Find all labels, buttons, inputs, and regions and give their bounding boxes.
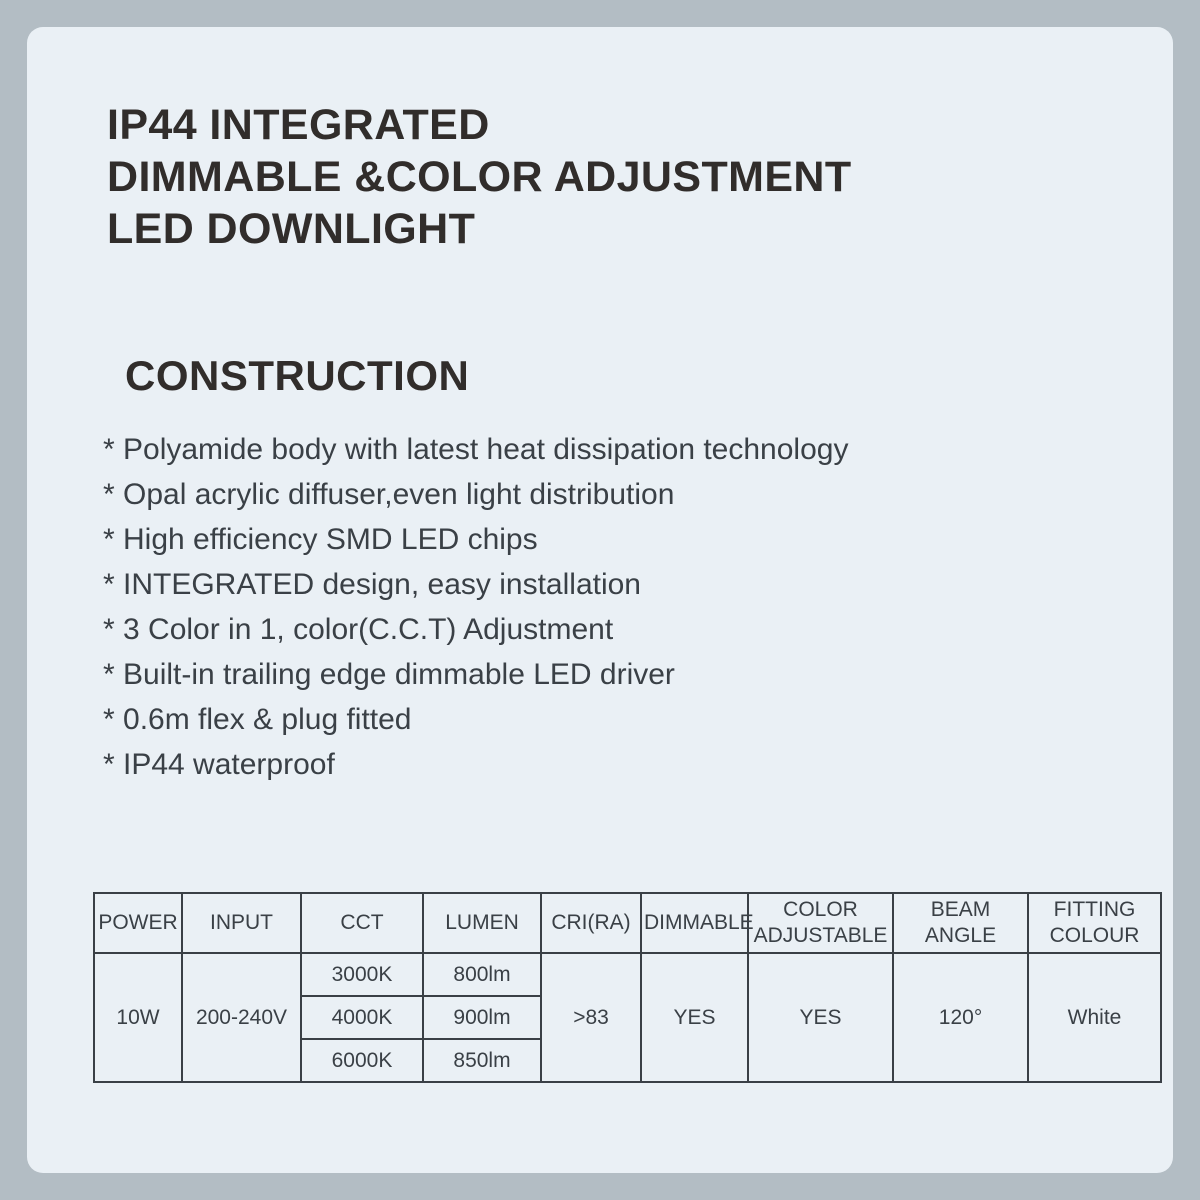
table-header-cct: CCT [301, 893, 423, 953]
table-cell-beam-angle: 120° [893, 953, 1028, 1082]
table-cell-cri: >83 [541, 953, 641, 1082]
feature-item: * High efficiency SMD LED chips [103, 517, 1143, 562]
feature-item: * Built-in trailing edge dimmable LED dr… [103, 652, 1143, 697]
table-cell-power: 10W [94, 953, 182, 1082]
feature-item: * IP44 waterproof [103, 742, 1143, 787]
table-cell-input: 200-240V [182, 953, 301, 1082]
table-header-input: INPUT [182, 893, 301, 953]
table-header-cri: CRI(RA) [541, 893, 641, 953]
feature-item: * 0.6m flex & plug fitted [103, 697, 1143, 742]
table-row: 10W 200-240V 3000K 800lm >83 YES YES 120… [94, 953, 1161, 996]
table-cell-cct-2: 4000K [301, 996, 423, 1039]
feature-item: * INTEGRATED design, easy installation [103, 562, 1143, 607]
table-cell-lumen-1: 800lm [423, 953, 541, 996]
table-header-lumen: LUMEN [423, 893, 541, 953]
table-header-dimmable: DIMMABLE [641, 893, 748, 953]
specification-table: POWER INPUT CCT LUMEN CRI(RA) DIMMABLE C… [93, 892, 1162, 1083]
feature-item: * Opal acrylic diffuser,even light distr… [103, 472, 1143, 517]
table-header-row: POWER INPUT CCT LUMEN CRI(RA) DIMMABLE C… [94, 893, 1161, 953]
content-panel: IP44 INTEGRATED DIMMABLE &COLOR ADJUSTME… [27, 27, 1173, 1173]
product-title: IP44 INTEGRATED DIMMABLE &COLOR ADJUSTME… [107, 99, 1127, 255]
table-cell-lumen-3: 850lm [423, 1039, 541, 1082]
table-cell-cct-1: 3000K [301, 953, 423, 996]
page-frame: IP44 INTEGRATED DIMMABLE &COLOR ADJUSTME… [0, 0, 1200, 1200]
feature-item: * 3 Color in 1, color(C.C.T) Adjustment [103, 607, 1143, 652]
table-cell-color-adjustable: YES [748, 953, 893, 1082]
table-header-fitting-colour: FITTING COLOUR [1028, 893, 1161, 953]
table-cell-lumen-2: 900lm [423, 996, 541, 1039]
table-cell-fitting-colour: White [1028, 953, 1161, 1082]
feature-item: * Polyamide body with latest heat dissip… [103, 427, 1143, 472]
product-title-line-2: DIMMABLE &COLOR ADJUSTMENT [107, 151, 1127, 203]
construction-heading: CONSTRUCTION [125, 352, 469, 400]
specification-table-wrapper: POWER INPUT CCT LUMEN CRI(RA) DIMMABLE C… [93, 892, 1160, 1083]
table-cell-dimmable: YES [641, 953, 748, 1082]
table-header-beam-angle: BEAM ANGLE [893, 893, 1028, 953]
product-title-line-3: LED DOWNLIGHT [107, 203, 1127, 255]
table-header-color-adjustable: COLOR ADJUSTABLE [748, 893, 893, 953]
table-header-power: POWER [94, 893, 182, 953]
product-title-line-1: IP44 INTEGRATED [107, 99, 1127, 151]
table-cell-cct-3: 6000K [301, 1039, 423, 1082]
construction-feature-list: * Polyamide body with latest heat dissip… [103, 427, 1143, 787]
